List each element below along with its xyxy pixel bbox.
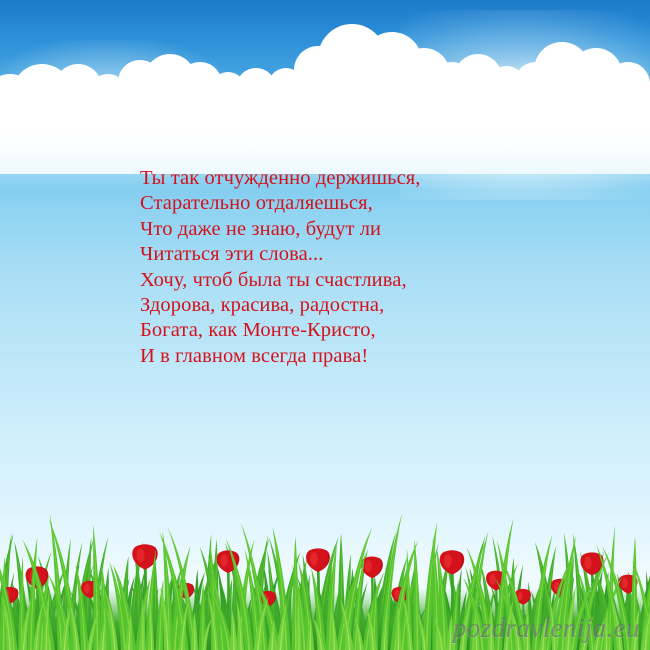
poem-line: Что даже не знаю, будут ли — [140, 217, 560, 242]
poem-line: Богата, как Монте-Кристо, — [140, 318, 560, 343]
poem-text: Ты так отчужденно держишься,Старательно … — [140, 166, 560, 369]
greeting-card: Ты так отчужденно держишься,Старательно … — [0, 0, 650, 650]
poem-line: И в главном всегда права! — [140, 344, 560, 369]
poem-line: Здорова, красива, радостна, — [140, 293, 560, 318]
poem-line: Читаться эти слова... — [140, 242, 560, 267]
site-watermark: pozdravlenija.eu — [453, 613, 640, 644]
poem-line: Старательно отдаляешься, — [140, 191, 560, 216]
poem-line: Хочу, чтоб была ты счастлива, — [140, 268, 560, 293]
poem-line: Ты так отчужденно держишься, — [140, 166, 560, 191]
